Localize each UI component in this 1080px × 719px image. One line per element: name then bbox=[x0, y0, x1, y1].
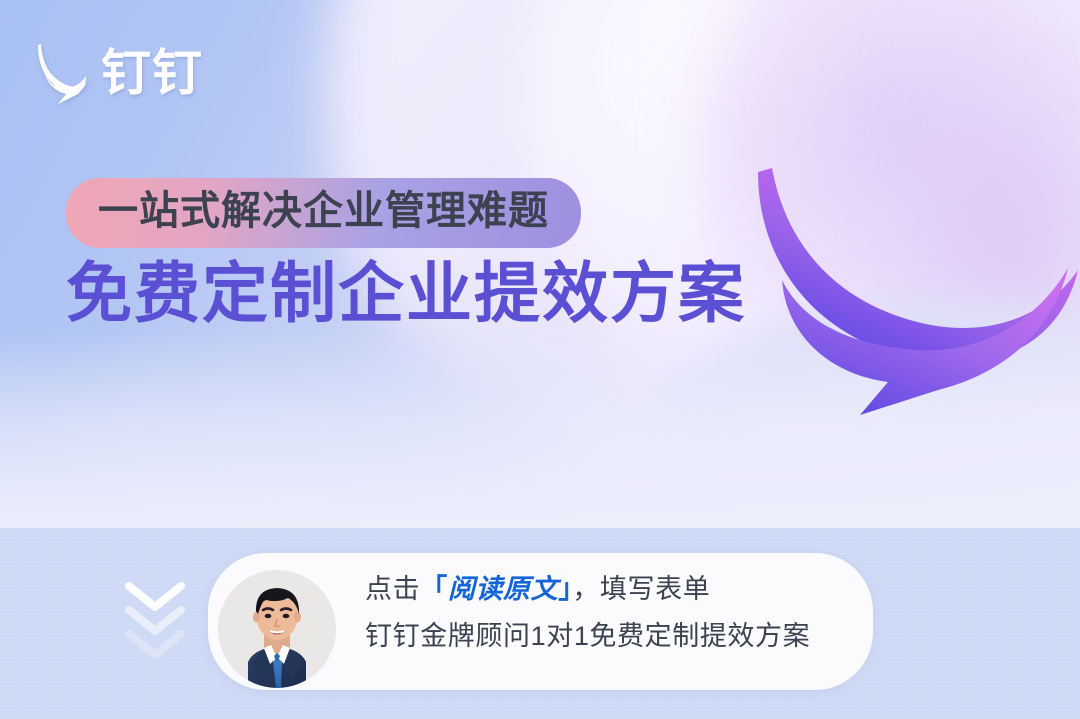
dingtalk-wing-icon bbox=[34, 42, 88, 104]
avatar bbox=[218, 537, 336, 691]
brand-name: 钉钉 bbox=[101, 48, 203, 98]
chevron-down-icon bbox=[124, 628, 186, 662]
hero-subtitle-pill: 一站式解决企业管理难题 bbox=[66, 178, 581, 248]
hero-subtitle: 一站式解决企业管理难题 bbox=[98, 188, 549, 235]
cta-text-block: 点击「阅读原文」，填写表单 钉钉金牌顾问1对1免费定制提效方案 bbox=[365, 576, 865, 650]
avatar-disc bbox=[218, 570, 336, 688]
avatar-portrait bbox=[218, 570, 336, 688]
page-title: 免费定制企业提效方案 bbox=[66, 254, 746, 333]
scroll-down-indicator[interactable] bbox=[124, 580, 186, 666]
cta-line-1: 点击「阅读原文」，填写表单 bbox=[365, 576, 865, 603]
cta-line-2: 钉钉金牌顾问1对1免费定制提效方案 bbox=[365, 623, 865, 650]
cta-line1-prefix: 点击 bbox=[365, 574, 420, 604]
cta-read-original-link[interactable]: 阅读原文 bbox=[448, 574, 558, 604]
brand-logo: 钉钉 bbox=[34, 42, 203, 104]
cta-bracket-close: 」 bbox=[558, 574, 572, 604]
promo-banner: 钉钉 一站式解决企业管理难题 免费定制企业提效方案 bbox=[0, 0, 1080, 719]
cta-bracket-open: 「 bbox=[420, 574, 448, 604]
cta-line1-suffix: ，填写表单 bbox=[572, 574, 710, 604]
background-bottom-wash bbox=[0, 330, 1080, 530]
